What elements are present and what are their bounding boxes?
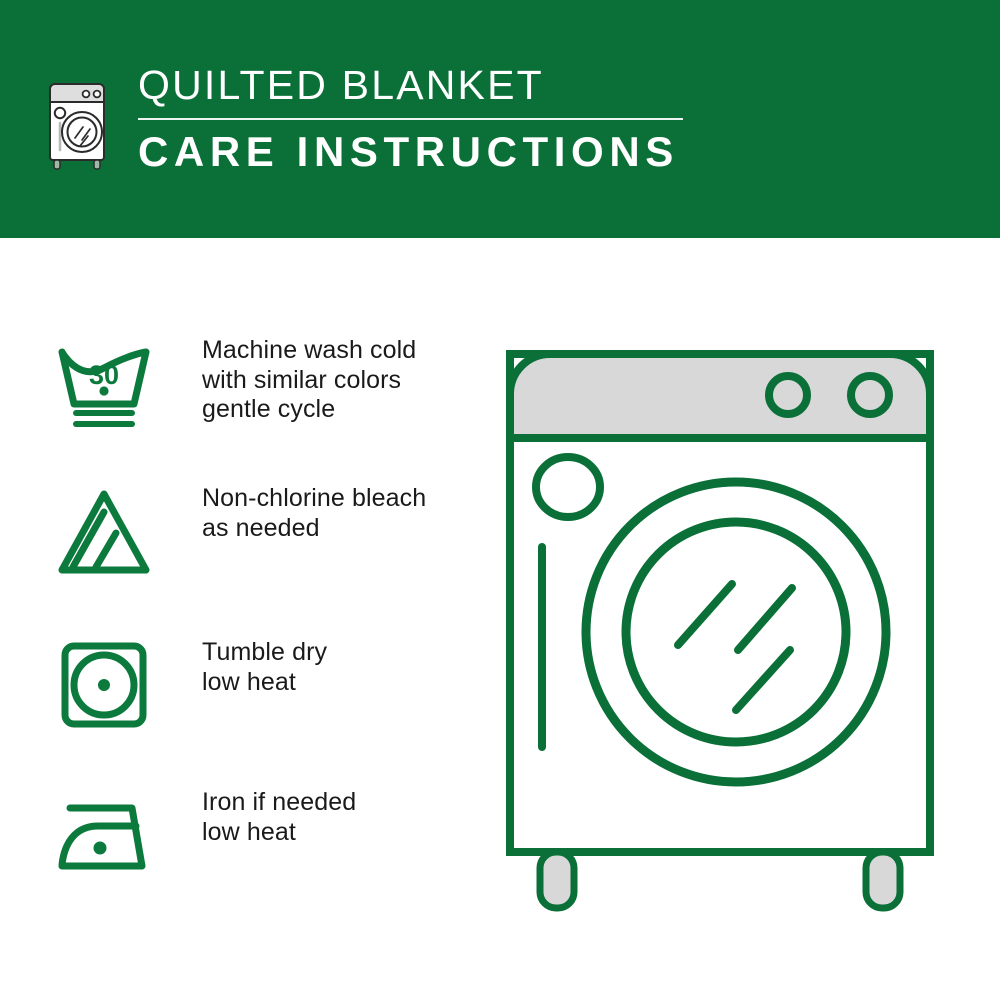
low-heat-dot <box>98 679 110 691</box>
instruction-item-iron: Iron if needed low heat <box>50 782 356 886</box>
machine-leg <box>866 852 900 908</box>
front-load-washing-machine-illustration <box>488 332 968 932</box>
page-subtitle: CARE INSTRUCTIONS <box>138 130 683 174</box>
tumble-dry-low-heat-icon <box>50 632 158 736</box>
header-band: QUILTED BLANKET CARE INSTRUCTIONS <box>0 0 1000 238</box>
iron-low-heat-icon <box>50 782 158 886</box>
care-instructions-infographic: QUILTED BLANKET CARE INSTRUCTIONS 30 Mac… <box>0 0 1000 1000</box>
machine-leg <box>540 852 574 908</box>
instruction-item-tumble-dry: Tumble dry low heat <box>50 632 327 736</box>
instruction-text: Iron if needed low heat <box>202 782 356 847</box>
dispenser-circle[interactable] <box>536 457 600 517</box>
header-title-group: QUILTED BLANKET CARE INSTRUCTIONS <box>138 62 683 174</box>
page-title: QUILTED BLANKET <box>138 64 683 107</box>
instruction-text: Machine wash cold with similar colors ge… <box>202 330 416 425</box>
non-chlorine-bleach-triangle-icon <box>50 478 158 582</box>
instruction-item-bleach: Non-chlorine bleach as needed <box>50 478 426 582</box>
header-content: QUILTED BLANKET CARE INSTRUCTIONS <box>44 62 683 176</box>
wash-tub-30-gentle-icon: 30 <box>50 330 158 434</box>
instruction-text: Non-chlorine bleach as needed <box>202 478 426 543</box>
wash-temperature-label: 30 <box>89 360 119 390</box>
title-divider <box>138 118 683 120</box>
control-knob[interactable] <box>769 376 807 414</box>
instruction-item-machine-wash: 30 Machine wash cold with similar colors… <box>50 330 416 434</box>
instruction-text: Tumble dry low heat <box>202 632 327 697</box>
low-heat-dot <box>94 842 107 855</box>
gentle-cycle-dot <box>99 386 108 395</box>
control-knob[interactable] <box>851 376 889 414</box>
washing-machine-icon <box>44 68 116 176</box>
